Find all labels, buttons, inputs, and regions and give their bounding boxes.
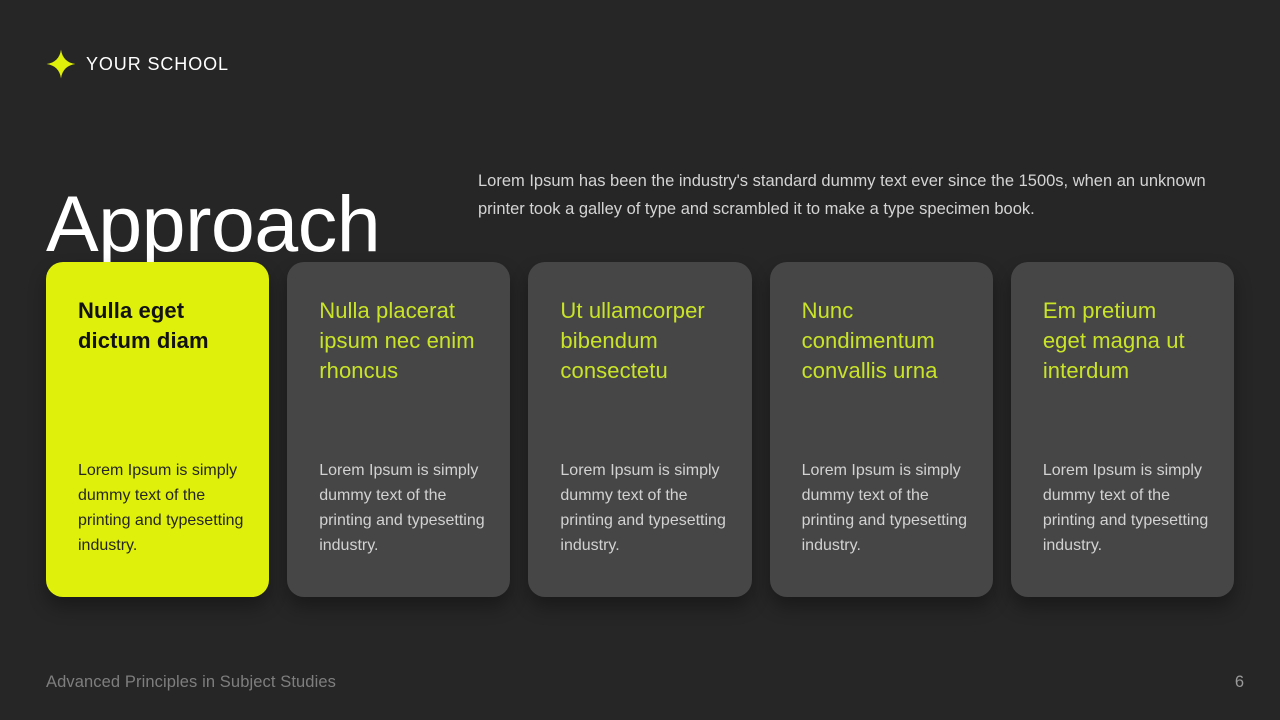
card-body: Lorem Ipsum is simply dummy text of the …	[1043, 458, 1212, 558]
card-title: Em pretium eget magna ut interdum	[1043, 296, 1202, 386]
page-number: 6	[1224, 673, 1244, 692]
card-body: Lorem Ipsum is simply dummy text of the …	[319, 458, 488, 558]
brand-name: YOUR SCHOOL	[86, 55, 229, 73]
approach-card-4[interactable]: Nunc condimentum convallis urna Lorem Ip…	[770, 262, 993, 597]
approach-card-1[interactable]: Nulla eget dictum diam Lorem Ipsum is si…	[46, 262, 269, 597]
sparkle-star-icon	[46, 49, 76, 79]
header-description: Lorem Ipsum has been the industry's stan…	[478, 167, 1240, 223]
card-title: Nulla eget dictum diam	[78, 296, 237, 356]
card-body: Lorem Ipsum is simply dummy text of the …	[802, 458, 971, 558]
page-title: Approach	[46, 184, 380, 263]
slide-canvas: YOUR SCHOOL Approach Lorem Ipsum has bee…	[0, 0, 1280, 720]
footer-note: Advanced Principles in Subject Studies	[46, 673, 336, 692]
card-body: Lorem Ipsum is simply dummy text of the …	[78, 458, 247, 558]
card-title: Ut ullamcorper bibendum consectetu	[560, 296, 719, 386]
card-title: Nulla placerat ipsum nec enim rhoncus	[319, 296, 478, 386]
brand-logo: YOUR SCHOOL	[46, 46, 229, 82]
approach-card-2[interactable]: Nulla placerat ipsum nec enim rhoncus Lo…	[287, 262, 510, 597]
approach-card-5[interactable]: Em pretium eget magna ut interdum Lorem …	[1011, 262, 1234, 597]
card-title: Nunc condimentum convallis urna	[802, 296, 961, 386]
approach-card-3[interactable]: Ut ullamcorper bibendum consectetu Lorem…	[528, 262, 751, 597]
card-row: Nulla eget dictum diam Lorem Ipsum is si…	[46, 262, 1234, 597]
card-body: Lorem Ipsum is simply dummy text of the …	[560, 458, 729, 558]
